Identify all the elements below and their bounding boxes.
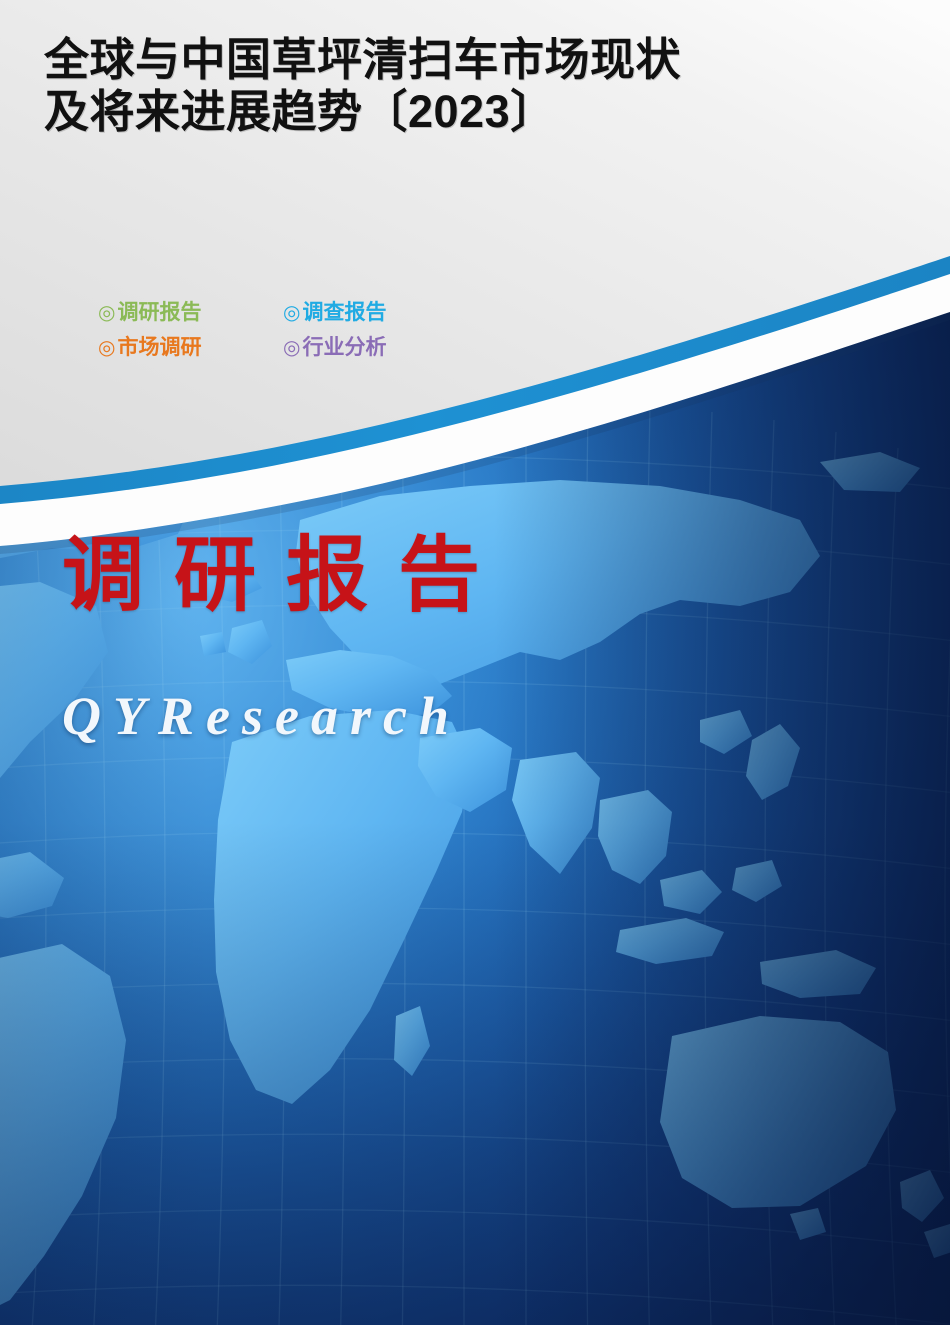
circle-bullet-icon: ◎	[98, 338, 115, 358]
circle-bullet-icon: ◎	[283, 303, 300, 323]
title-line-2: 及将来进展趋势〔2023〕	[44, 86, 874, 138]
world-map-background	[0, 0, 950, 1325]
brand-logo-qyresearch: QYResearch	[62, 683, 461, 749]
tag-shichang-diaoyan[interactable]: ◎ 市场调研	[98, 335, 283, 361]
bottom-white-border	[0, 1325, 950, 1344]
title-line-1: 全球与中国草坪清扫车市场现状	[44, 34, 874, 86]
tag-diaocha-baogao[interactable]: ◎ 调查报告	[283, 300, 386, 326]
world-map-graphic	[0, 0, 950, 1325]
tag-diaoyan-baogao[interactable]: ◎ 调研报告	[98, 300, 283, 326]
tag-label: 市场调研	[117, 335, 201, 361]
tag-row-1: ◎ 调研报告 ◎ 调查报告	[98, 300, 478, 326]
brand-headline-chinese: 调研报告	[62, 528, 510, 624]
tag-label: 调研报告	[117, 300, 201, 326]
cover-title: 全球与中国草坪清扫车市场现状 及将来进展趋势〔2023〕	[44, 34, 874, 138]
circle-bullet-icon: ◎	[283, 338, 300, 358]
tag-label: 行业分析	[302, 335, 386, 361]
report-cover-page: 全球与中国草坪清扫车市场现状 及将来进展趋势〔2023〕 ◎ 调研报告 ◎ 调查…	[0, 0, 950, 1344]
landmass-ireland	[200, 632, 226, 656]
circle-bullet-icon: ◎	[98, 303, 115, 323]
tag-hangye-fenxi[interactable]: ◎ 行业分析	[283, 335, 386, 361]
tag-row-2: ◎ 市场调研 ◎ 行业分析	[98, 335, 478, 361]
category-tag-list: ◎ 调研报告 ◎ 调查报告 ◎ 市场调研 ◎ 行业分析	[98, 300, 478, 370]
tag-label: 调查报告	[302, 300, 386, 326]
